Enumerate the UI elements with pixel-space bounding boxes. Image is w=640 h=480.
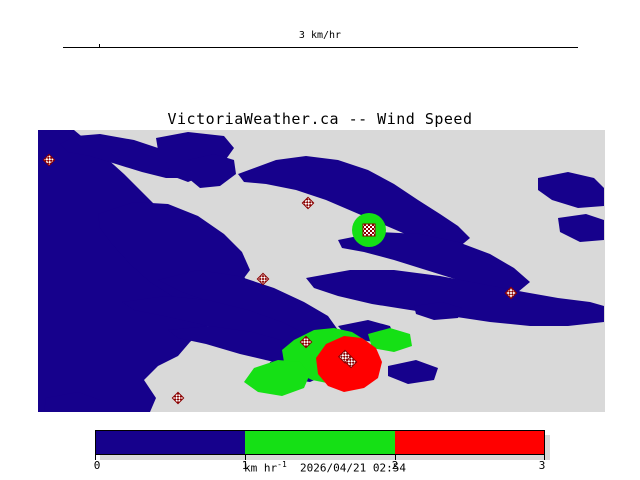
colorbar-segment-mid bbox=[245, 431, 394, 454]
timestamp-label: 2026/04/21 02:54 bbox=[300, 462, 406, 475]
reference-scale-bar: 3 km/hr bbox=[0, 30, 640, 60]
colorbar-segment-high bbox=[395, 431, 544, 454]
reference-scale-line bbox=[63, 47, 578, 48]
colorbar-gradient bbox=[95, 430, 545, 455]
station-marker bbox=[363, 224, 375, 236]
colorbar-units-label: km hr bbox=[244, 462, 277, 475]
colorbar-segment-low bbox=[96, 431, 245, 454]
colorbar-caption: km hr-1 2026/04/21 02:54 bbox=[95, 460, 555, 475]
colorbar: 0 1 2 3 km hr-1 2026/04/21 02:54 bbox=[95, 430, 555, 478]
page-title: VictoriaWeather.ca -- Wind Speed bbox=[0, 110, 640, 128]
map-canvas bbox=[38, 130, 605, 412]
colorbar-units-exponent: -1 bbox=[277, 460, 287, 469]
reference-scale-label: 3 km/hr bbox=[0, 30, 640, 42]
reference-scale-tick bbox=[99, 44, 100, 47]
wind-speed-map[interactable] bbox=[38, 130, 605, 412]
screenshot-stage: 3 km/hr VictoriaWeather.ca -- Wind Speed bbox=[0, 0, 640, 480]
